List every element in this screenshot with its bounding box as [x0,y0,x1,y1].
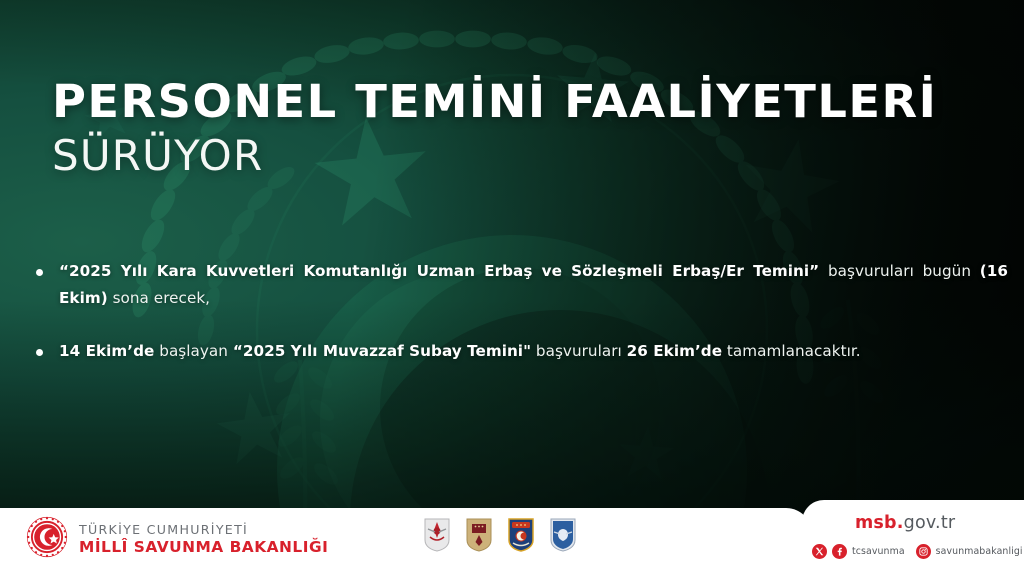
kara-kuvvetleri-emblem[interactable] [466,518,492,557]
instagram-icon[interactable] [916,544,931,559]
bullet-text-2: 14 Ekim’de başlayan “2025 Yılı Muvazzaf … [59,338,861,365]
bullet-list: “2025 Yılı Kara Kuvvetleri Komutanlığı U… [36,258,1008,391]
bullet-text-1: “2025 Yılı Kara Kuvvetleri Komutanlığı U… [59,258,1008,312]
headline-block: PERSONEL TEMİNİ FAALİYETLERİ SÜRÜYOR [52,78,952,179]
force-emblem-row [424,518,576,557]
ministry-brand[interactable]: TÜRKİYE CUMHURİYETİ MİLLÎ SAVUNMA BAKANL… [26,516,328,563]
bullet-dot-icon [36,269,43,276]
social-links: tcsavunma savunmabakanligi [812,544,1024,559]
x-twitter-icon[interactable] [812,544,827,559]
social-handle-tcsavunma[interactable]: tcsavunma [852,546,905,557]
website-url[interactable]: msb.gov.tr [855,513,955,533]
footer-bar-right [802,500,1024,576]
ministry-line-1: TÜRKİYE CUMHURİYETİ [79,522,328,538]
ministry-line-2: MİLLÎ SAVUNMA BAKANLIĞI [79,538,328,557]
ministry-brand-text: TÜRKİYE CUMHURİYETİ MİLLÎ SAVUNMA BAKANL… [79,522,328,557]
poster-canvas: PERSONEL TEMİNİ FAALİYETLERİ SÜRÜYOR “20… [0,0,1024,576]
website-bold-part: msb. [855,513,904,533]
turkey-state-emblem-icon [26,516,68,563]
list-item: 14 Ekim’de başlayan “2025 Yılı Muvazzaf … [36,338,1008,365]
list-item: “2025 Yılı Kara Kuvvetleri Komutanlığı U… [36,258,1008,312]
hava-kuvvetleri-emblem[interactable] [550,518,576,557]
social-handle-savunmabakanligi[interactable]: savunmabakanligi [936,546,1023,557]
headline-line-2: SÜRÜYOR [52,132,952,179]
website-rest-part: gov.tr [904,513,956,533]
headline-line-1: PERSONEL TEMİNİ FAALİYETLERİ [52,78,979,126]
facebook-icon[interactable] [832,544,847,559]
bullet-dot-icon [36,349,43,356]
genelkurmay-baskanligi-emblem[interactable] [424,518,450,557]
deniz-kuvvetleri-emblem[interactable] [508,518,534,557]
